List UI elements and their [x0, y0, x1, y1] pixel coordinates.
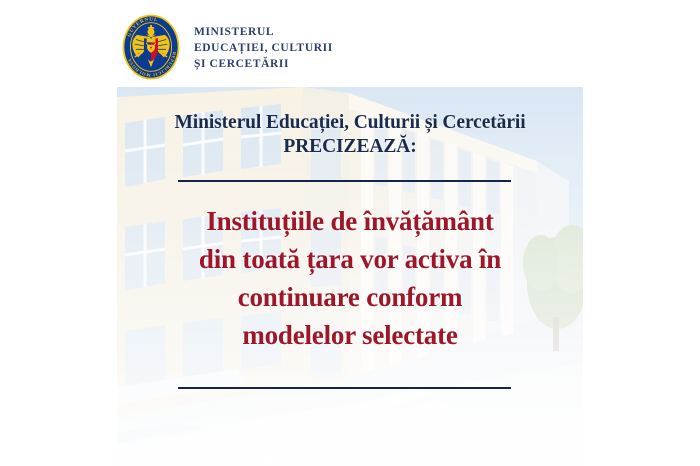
ministry-header: GUVERNUL REPUBLICII MOLDOVA: [122, 12, 333, 82]
headline: Ministerul Educației, Culturii și Cercet…: [117, 111, 583, 159]
message-line-2: din toată țara vor activa în: [123, 240, 577, 278]
message-line-3: continuare conform: [123, 278, 577, 316]
message-line-1: Instituțiile de învățământ: [123, 202, 577, 240]
message-line-4: modelelor selectate: [123, 316, 577, 354]
announcement-banner: Ministerul Educației, Culturii și Cercet…: [117, 87, 583, 466]
announcement-poster: GUVERNUL REPUBLICII MOLDOVA: [0, 0, 700, 466]
moldova-government-emblem-icon: GUVERNUL REPUBLICII MOLDOVA: [122, 14, 180, 80]
ministry-line-2: EDUCAȚIEI, CULTURII: [194, 41, 333, 55]
ministry-line-1: MINISTERUL: [194, 25, 333, 39]
ministry-line-3: ȘI CERCETĂRII: [194, 57, 333, 71]
divider-top: [178, 180, 511, 182]
message-text: Instituțiile de învățământ din toată țar…: [123, 202, 577, 354]
banner-text-content: Ministerul Educației, Culturii și Cercet…: [117, 87, 583, 466]
headline-line-2: PRECIZEAZĂ:: [117, 135, 583, 159]
divider-bottom: [178, 387, 511, 389]
ministry-name-block: MINISTERUL EDUCAȚIEI, CULTURII ȘI CERCET…: [194, 23, 333, 71]
headline-line-1: Ministerul Educației, Culturii și Cercet…: [174, 112, 525, 133]
